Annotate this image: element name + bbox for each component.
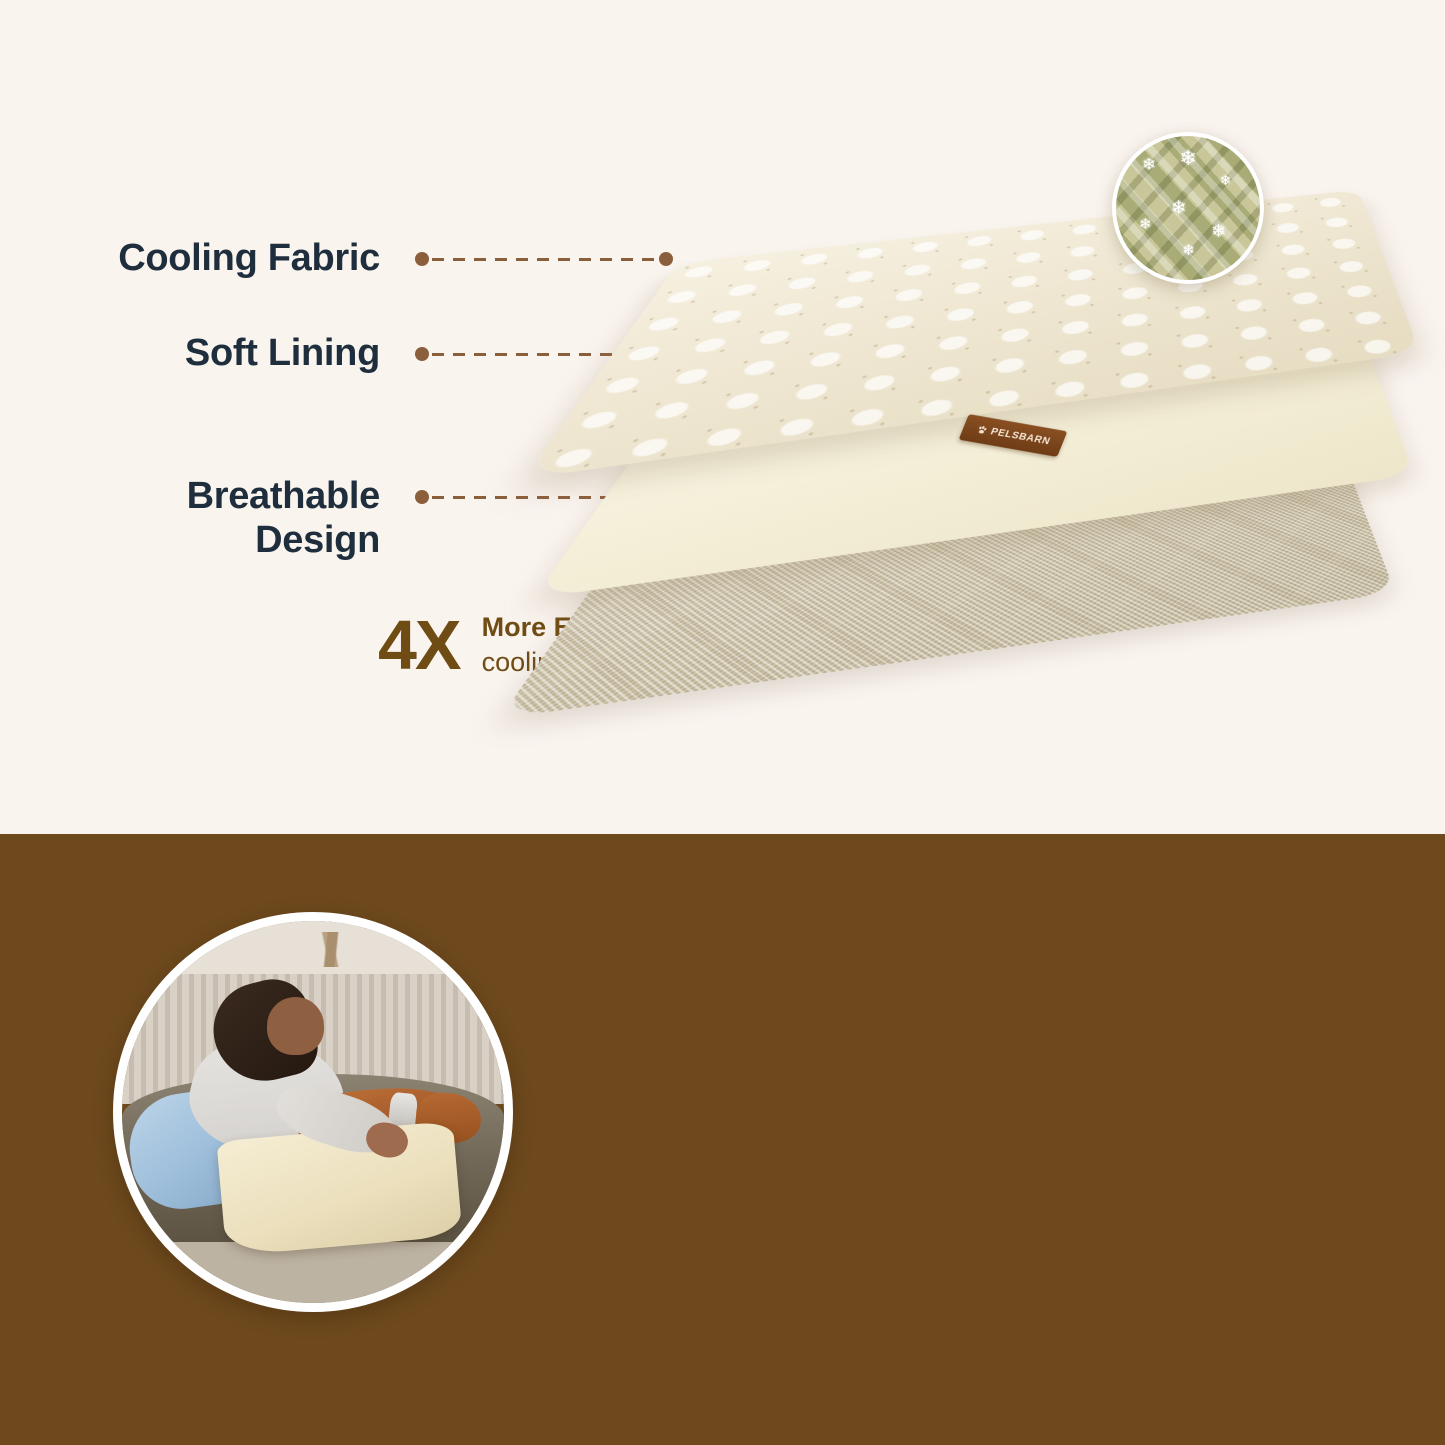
callout-breathable-design: Breathable Design <box>187 474 380 562</box>
leader-dot-start <box>415 252 429 266</box>
callout-label: Soft Lining <box>185 331 380 375</box>
callout-label: Cooling Fabric <box>118 236 380 280</box>
snowflake-icon: ❄ <box>1171 199 1187 218</box>
leader-dot-start <box>415 490 429 504</box>
lifestyle-photo <box>113 912 513 1312</box>
snowflake-icon: ❄ <box>1139 217 1152 232</box>
photo-wall-art <box>244 932 420 966</box>
snowflake-icon: ❄ <box>1142 156 1156 173</box>
fabric-closeup-bubble: ❄ ❄ ❄ ❄ ❄ ❄ ❄ <box>1112 132 1264 284</box>
callout-cooling-fabric: Cooling Fabric <box>118 236 380 280</box>
brand-name: PELSBARN <box>989 426 1052 447</box>
paw-icon <box>974 424 989 436</box>
product-layer-stack: PELSBARN ❄ ❄ ❄ ❄ ❄ ❄ ❄ <box>600 120 1445 730</box>
layers-panel: Cooling Fabric Soft Lining Breathable De… <box>0 0 1445 834</box>
features-banner: BUILT FOR FORM & FUNCTION Waterproof won… <box>0 834 1445 1445</box>
snowflake-icon: ❄ <box>1220 173 1232 187</box>
callout-label: Breathable Design <box>187 474 380 562</box>
snowflake-icon: ❄ <box>1179 148 1197 169</box>
leader-dot-start <box>415 347 429 361</box>
photo-woman-head <box>267 997 324 1054</box>
snowflake-icon: ❄ <box>1211 222 1226 240</box>
metric-value: 4X <box>378 610 460 680</box>
callout-soft-lining: Soft Lining <box>185 331 380 375</box>
snowflake-icon: ❄ <box>1182 243 1195 258</box>
